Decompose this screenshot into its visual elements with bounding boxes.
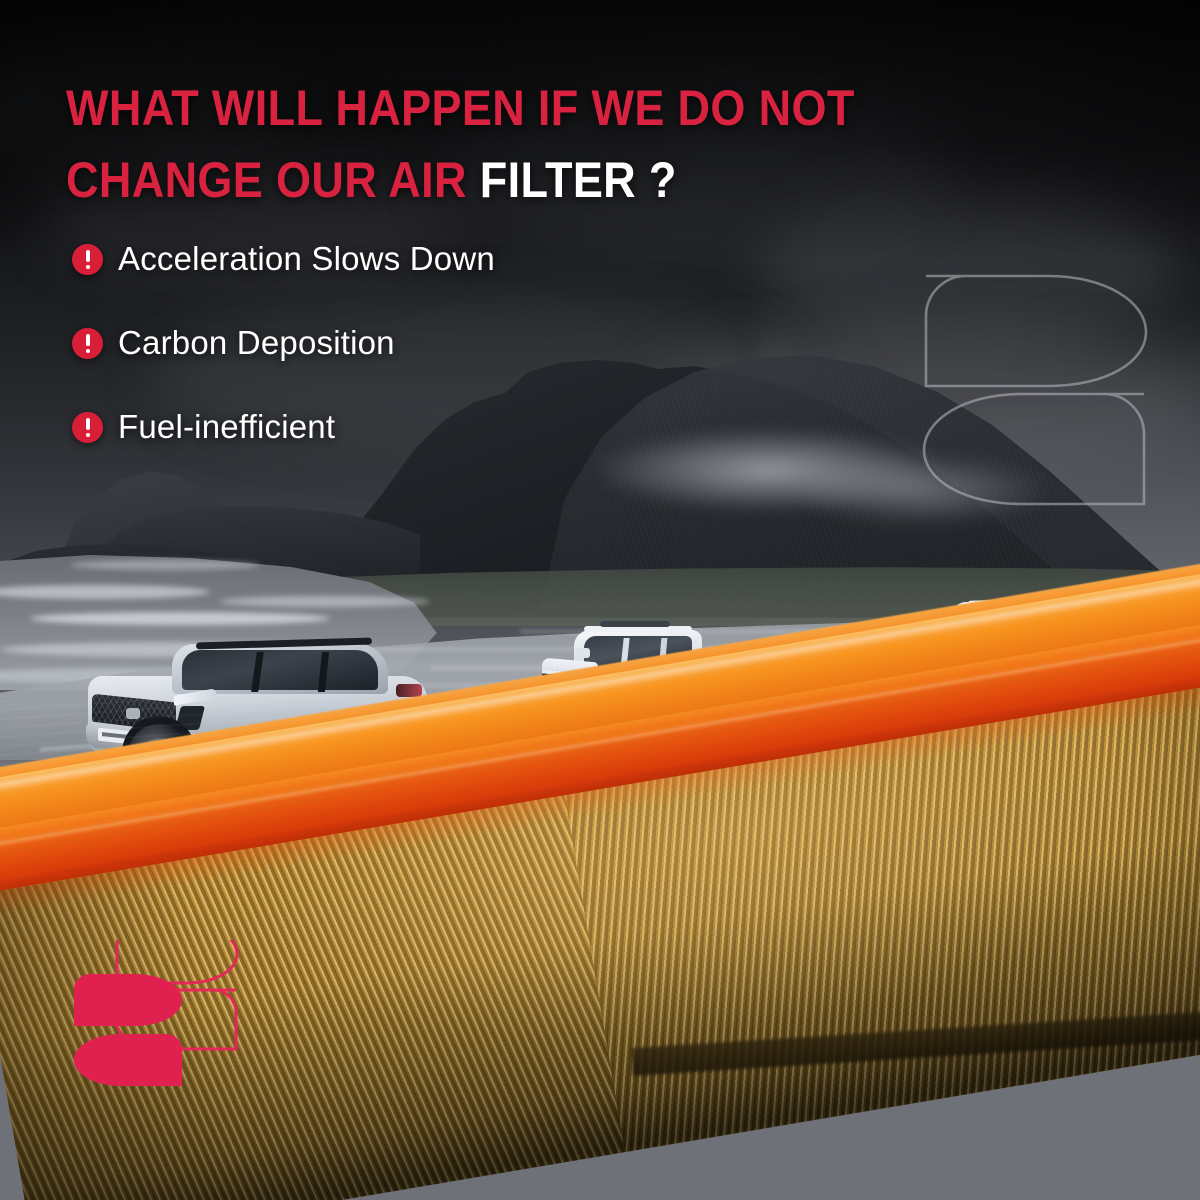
surf-foam [220,596,430,607]
list-item-label: Carbon Deposition [118,324,395,362]
poster-canvas: WHAT WILL HAPPEN IF WE DO NOT CHANGE OUR… [0,0,1200,1200]
brand-s-upper [74,974,182,1026]
list-item: Carbon Deposition [72,324,812,362]
brand-watermark-logo [920,270,1150,510]
headline-line-2-red-text: CHANGE OUR AIR [66,152,480,208]
list-item-label: Acceleration Slows Down [118,240,495,278]
headline-line-2-white-text: FILTER ? [480,152,677,208]
warning-list: Acceleration Slows Down Carbon Depositio… [72,240,812,492]
exclamation-stroke [86,418,90,430]
headline-line-1-text: WHAT WILL HAPPEN IF WE DO NOT [66,80,855,136]
exclamation-circle-icon [72,412,103,443]
page-title: WHAT WILL HAPPEN IF WE DO NOT CHANGE OUR… [66,72,975,216]
exclamation-dot [86,433,90,437]
list-item: Fuel-inefficient [72,408,812,446]
headline-line-2: CHANGE OUR AIR FILTER ? [66,144,975,216]
exclamation-dot [86,349,90,353]
brand-logo [70,940,250,1130]
list-item-label: Fuel-inefficient [118,408,335,446]
brand-s-lower [74,1034,182,1086]
exclamation-circle-icon [72,244,103,275]
surf-foam [30,612,330,625]
brand-s-mark-outline-icon [920,270,1150,510]
list-item: Acceleration Slows Down [72,240,812,278]
exclamation-circle-icon [72,328,103,359]
headline-line-1: WHAT WILL HAPPEN IF WE DO NOT [66,72,975,144]
exclamation-stroke [86,334,90,346]
exclamation-dot [86,265,90,269]
surf-foam [70,560,260,570]
exclamation-stroke [86,250,90,262]
brand-s-mark-icon [70,940,250,1130]
